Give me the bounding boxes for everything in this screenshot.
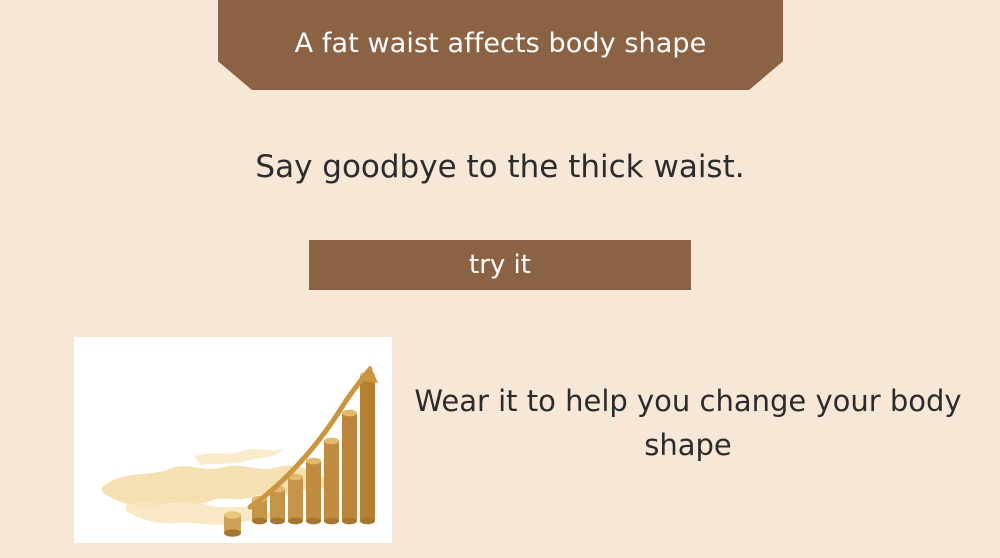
try-it-button-label: try it bbox=[469, 252, 531, 278]
page-headline: Say goodbye to the thick waist. bbox=[0, 150, 1000, 184]
promo-page: A fat waist affects body shape Say goodb… bbox=[0, 0, 1000, 558]
banner-tag: A fat waist affects body shape bbox=[218, 0, 783, 90]
product-photo bbox=[74, 337, 392, 543]
banner-title: A fat waist affects body shape bbox=[295, 30, 707, 57]
try-it-button[interactable]: try it bbox=[309, 240, 691, 290]
bottom-caption: Wear it to help you change your body sha… bbox=[408, 380, 968, 467]
growth-chart-illustration bbox=[74, 337, 392, 543]
